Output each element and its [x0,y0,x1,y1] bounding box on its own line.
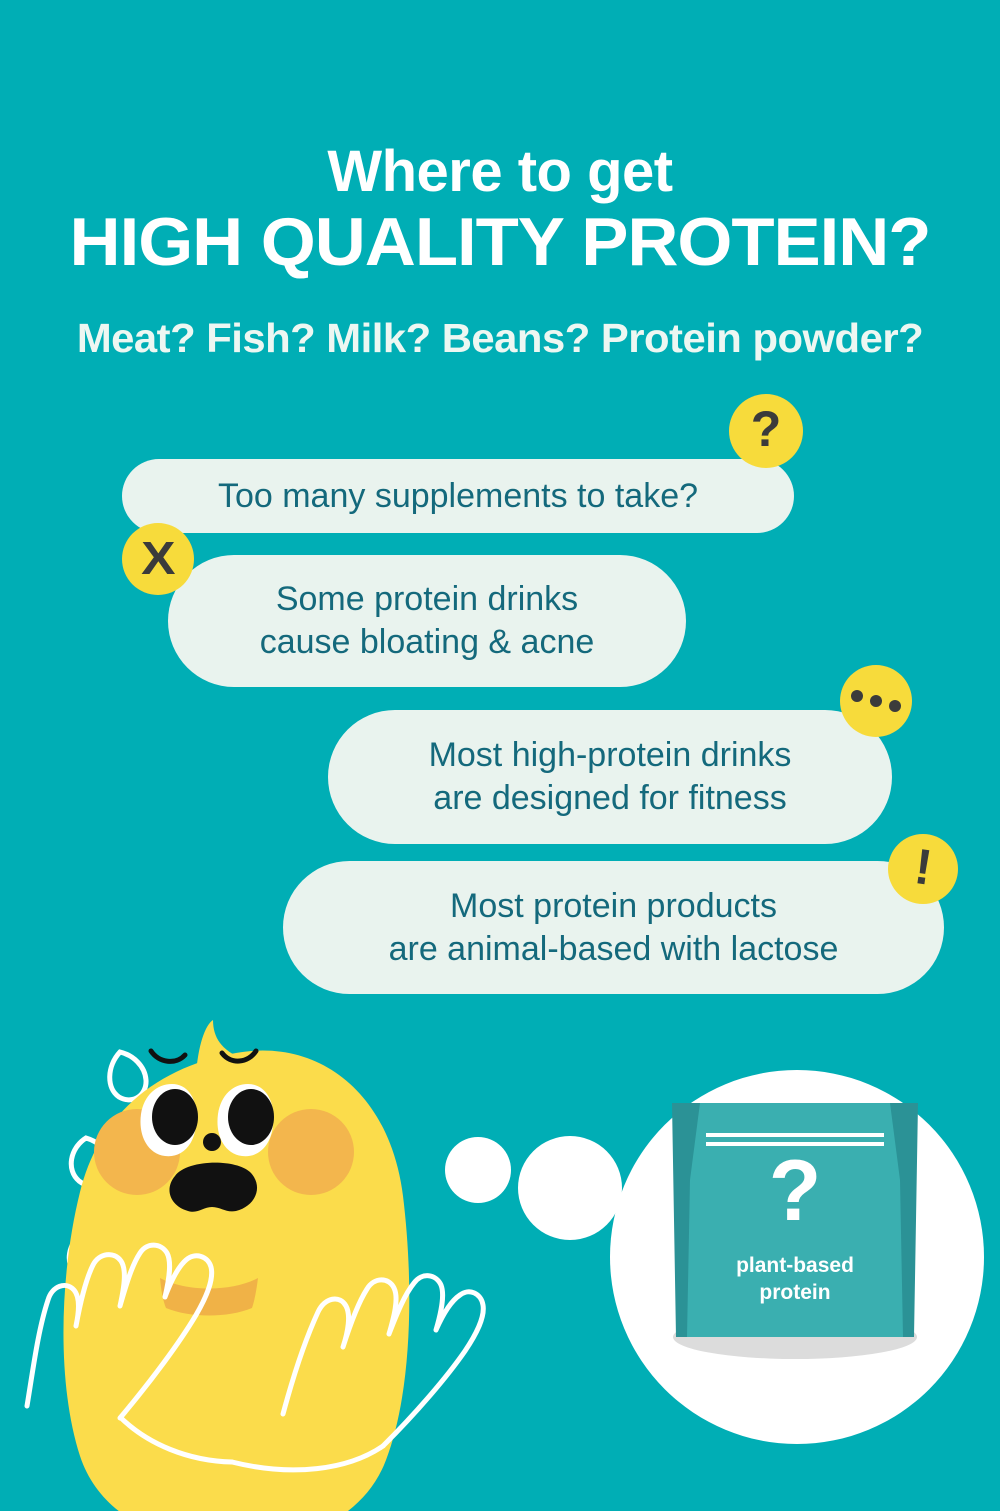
exclamation-mark-glyph: ! [911,837,936,897]
pouch-label: plant-based protein [705,1253,885,1307]
cross-x-glyph: X [141,531,175,585]
ellipsis-dots [851,695,901,707]
speech-bubble-4: Most protein products are animal-based w… [283,861,944,994]
speech-bubble-3-line2: are designed for fitness [433,777,786,820]
sweat-drop-1 [110,1052,146,1100]
chick-cheek-right [268,1109,354,1195]
exclamation-mark-icon: ! [888,834,958,904]
pouch-seal-line-1 [706,1133,884,1137]
chick-mouth [169,1163,257,1212]
speech-bubble-2-line1: Some protein drinks [276,578,578,621]
speech-bubble-3: Most high-protein drinks are designed fo… [328,710,892,844]
speech-bubble-2: Some protein drinks cause bloating & acn… [168,555,686,687]
ellipsis-icon [840,665,912,737]
pouch-question-mark: ? [705,1148,885,1234]
speech-bubble-2-line2: cause bloating & acne [260,621,595,664]
page-title-line1: Where to get [0,143,1000,201]
chick-pupil-right [228,1089,274,1145]
ellipsis-dot-3 [889,700,901,712]
speech-bubble-1: Too many supplements to take? [122,459,794,533]
speech-bubble-1-line1: Too many supplements to take? [218,475,698,518]
chick-nose [203,1133,221,1151]
chick-eyebrow-left [151,1051,185,1061]
ellipsis-dot-2 [870,695,882,707]
speech-bubble-4-line1: Most protein products [450,885,777,928]
worried-chick [27,1020,483,1511]
page-title-line2: HIGH QUALITY PROTEIN? [0,208,1000,276]
thought-trail-circle-1 [445,1137,511,1203]
pouch-label-line2: protein [705,1280,885,1307]
page-subtitle: Meat? Fish? Milk? Beans? Protein powder? [0,318,1000,359]
pouch-label-line1: plant-based [705,1253,885,1280]
question-mark-glyph: ? [751,400,782,458]
ellipsis-dot-1 [851,690,863,702]
cross-x-icon: X [122,523,194,595]
speech-bubble-3-line1: Most high-protein drinks [429,734,792,777]
question-mark-icon: ? [729,394,803,468]
chick-pupil-left [152,1089,198,1145]
infographic-canvas: Where to get HIGH QUALITY PROTEIN? Meat?… [0,0,1000,1511]
thought-trail-circle-2 [518,1136,622,1240]
speech-bubble-4-line2: are animal-based with lactose [389,928,839,971]
